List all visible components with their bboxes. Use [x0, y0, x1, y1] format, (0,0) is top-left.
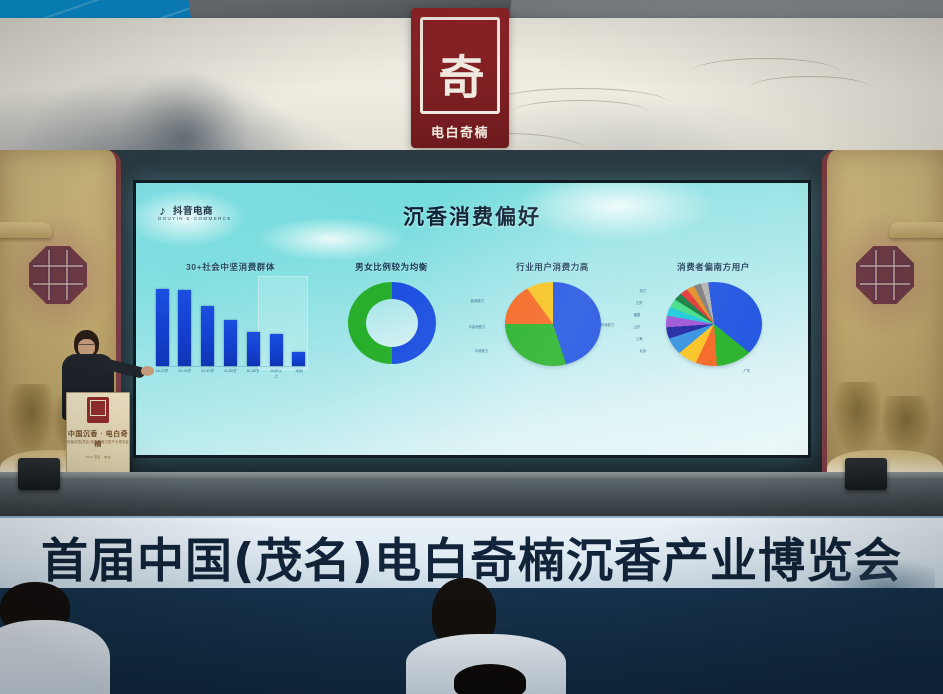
bar	[201, 306, 214, 366]
octagonal-window-icon	[856, 246, 914, 304]
audience-member	[0, 582, 110, 694]
ink-wash-pine	[120, 73, 250, 153]
pie-leader-label: 中高消费力	[469, 324, 486, 329]
cloud-scroll-line	[750, 76, 870, 99]
painted-tree	[881, 396, 931, 454]
pie-leader-label: 北京	[640, 348, 647, 353]
tick-label: 24-30岁	[178, 369, 191, 379]
bar	[247, 332, 260, 366]
seal-glyph: 奇	[439, 57, 482, 98]
chart-title: 消费者偏南方用户	[677, 261, 750, 273]
pie-leader-label: 高消费力	[471, 298, 485, 303]
pie-leader-label: 江苏	[636, 300, 643, 305]
pie-leader-label: 山东	[634, 324, 641, 329]
tick-label: 41-50岁	[224, 369, 237, 379]
pie-leader-label: 浙江	[640, 288, 647, 293]
bar	[224, 320, 237, 366]
audience-area	[0, 588, 943, 694]
charts-row: 30+社会中坚消费群体 18-23岁 24-30岁 31-40岁 41-50岁	[150, 261, 794, 391]
painted-eave	[889, 222, 943, 238]
chart-title: 行业用户消费力高	[516, 261, 589, 273]
audience-member	[410, 578, 560, 694]
audience-head	[454, 664, 526, 694]
pie-chart-plot	[666, 282, 762, 366]
pie-leader-label: 广东	[744, 368, 751, 373]
pie-leader-label: 福建	[634, 312, 641, 317]
pie-leader-label: 上海	[636, 336, 643, 341]
decorative-panel-right	[822, 150, 943, 490]
pie-chart-wrap: 高消费力 中高消费力 中消费力 低消费力	[505, 282, 601, 366]
tick-label: 60岁以上	[270, 369, 283, 379]
pie-chart-plot	[505, 282, 601, 366]
painted-eave	[0, 222, 52, 238]
slide-title: 沉香消费偏好	[136, 201, 808, 231]
presenter-hand	[141, 366, 154, 376]
conference-stage-photo: 奇 电白奇楠 ♪ 抖音电商 DOU	[0, 0, 943, 694]
stage-monitor-speaker	[18, 458, 60, 490]
bar	[270, 334, 283, 366]
tick-label: 31-40岁	[201, 369, 214, 379]
chart-pie-spending-power: 行业用户消费力高 高消费力 中高消费力 中消费力 低消费力	[472, 261, 633, 366]
tick-label: 51-60岁	[247, 369, 260, 379]
stage-floor	[0, 478, 943, 520]
painted-tree	[8, 384, 54, 454]
podium-footer: 2024 茂名 · 电白	[67, 455, 129, 459]
stage-monitor-speaker	[845, 458, 887, 490]
tick-label: 18-23岁	[156, 369, 169, 379]
seal-caption: 电白奇楠	[411, 122, 509, 141]
banner-ink-decor	[815, 558, 935, 592]
tick-label: 未知	[292, 369, 305, 379]
pie-leader-label: 中消费力	[475, 348, 489, 353]
chart-donut-gender: 男女比例较为均衡	[311, 261, 472, 364]
donut-hole	[366, 299, 418, 347]
event-seal-logo: 奇 电白奇楠	[411, 8, 509, 148]
bar	[292, 352, 305, 366]
chart-title: 男女比例较为均衡	[355, 261, 428, 273]
chart-bar-age-groups: 30+社会中坚消费群体 18-23岁 24-30岁 31-40岁 41-50岁	[150, 261, 311, 379]
donut-chart-plot	[348, 282, 436, 364]
podium-seal-icon	[87, 397, 109, 423]
cloud-scroll-line	[510, 100, 650, 127]
chart-pie-region: 消费者偏南方用户 浙江 江苏 福建 山东 上海 北京 广东	[633, 261, 794, 366]
glasses-icon	[79, 344, 94, 349]
bar-chart-plot	[156, 282, 306, 367]
bar-axis-ticks: 18-23岁 24-30岁 31-40岁 41-50岁 51-60岁 60岁以上…	[156, 369, 306, 379]
audience-shirt	[0, 620, 110, 694]
pie-leader-label: 低消费力	[601, 322, 615, 327]
painted-tree	[833, 382, 881, 454]
chart-title: 30+社会中坚消费群体	[186, 261, 275, 273]
podium-subtitle: 首届中国(茂名)电白奇楠沉香产业博览会	[67, 439, 129, 444]
led-presentation-screen: ♪ 抖音电商 DOUYIN E-COMMERCE 沉香消费偏好 30+社会中坚消…	[136, 183, 808, 455]
bar	[178, 290, 191, 366]
pie-chart-wrap: 浙江 江苏 福建 山东 上海 北京 广东	[666, 282, 762, 366]
bar	[156, 289, 169, 366]
